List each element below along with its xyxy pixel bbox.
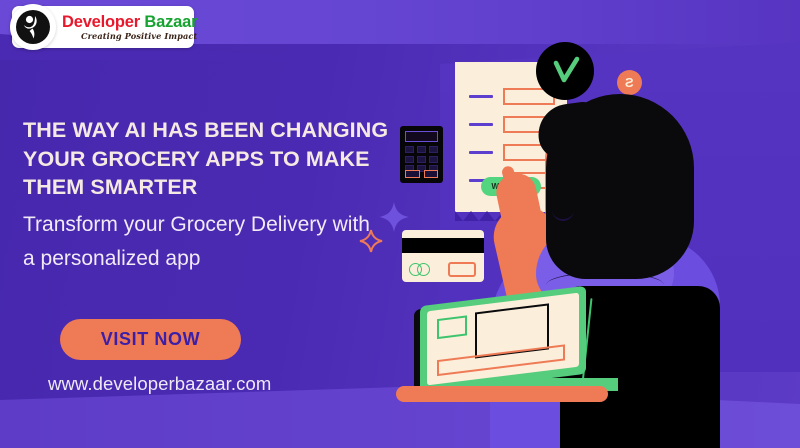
brand-logo[interactable]: Developer Bazaar Creating Positive Impac… (12, 6, 194, 48)
calculator-keypad (405, 146, 438, 172)
sparkle-outline-icon (358, 228, 384, 254)
hero-illustration: PAY NOW S S (340, 0, 800, 448)
desk-surface (396, 386, 608, 402)
laptop-screen (427, 293, 579, 386)
screen-block-green (437, 315, 467, 339)
calculator-display (405, 131, 438, 142)
credit-card-icon (402, 230, 484, 282)
person-eye (552, 188, 558, 194)
receipt-line-item (469, 88, 555, 105)
logo-wordmark: Developer Bazaar Creating Positive Impac… (62, 14, 197, 41)
badge-orange-glyph: S (625, 76, 634, 89)
check-badge (536, 42, 594, 100)
visit-now-button[interactable]: VISIT NOW (60, 319, 241, 360)
badge-orange: S (617, 70, 642, 95)
person-logo-icon (10, 4, 56, 50)
website-url[interactable]: www.developerbazaar.com (48, 373, 271, 395)
calculator-icon (400, 126, 443, 183)
card-logo-circles (409, 263, 435, 276)
marketing-banner: Developer Bazaar Creating Positive Impac… (0, 0, 800, 448)
card-chip (448, 262, 476, 277)
card-magnetic-stripe (402, 238, 484, 253)
logo-tagline: Creating Positive Impact (62, 32, 197, 40)
calculator-action-keys (405, 170, 438, 178)
person-ear (602, 176, 628, 210)
logo-word-bazaar: Bazaar (144, 13, 197, 31)
logo-word-developer: Developer (62, 13, 140, 31)
check-icon (545, 51, 585, 91)
visit-now-label: VISIT NOW (101, 329, 200, 350)
subheadline: Transform your Grocery Delivery with a p… (23, 208, 383, 276)
